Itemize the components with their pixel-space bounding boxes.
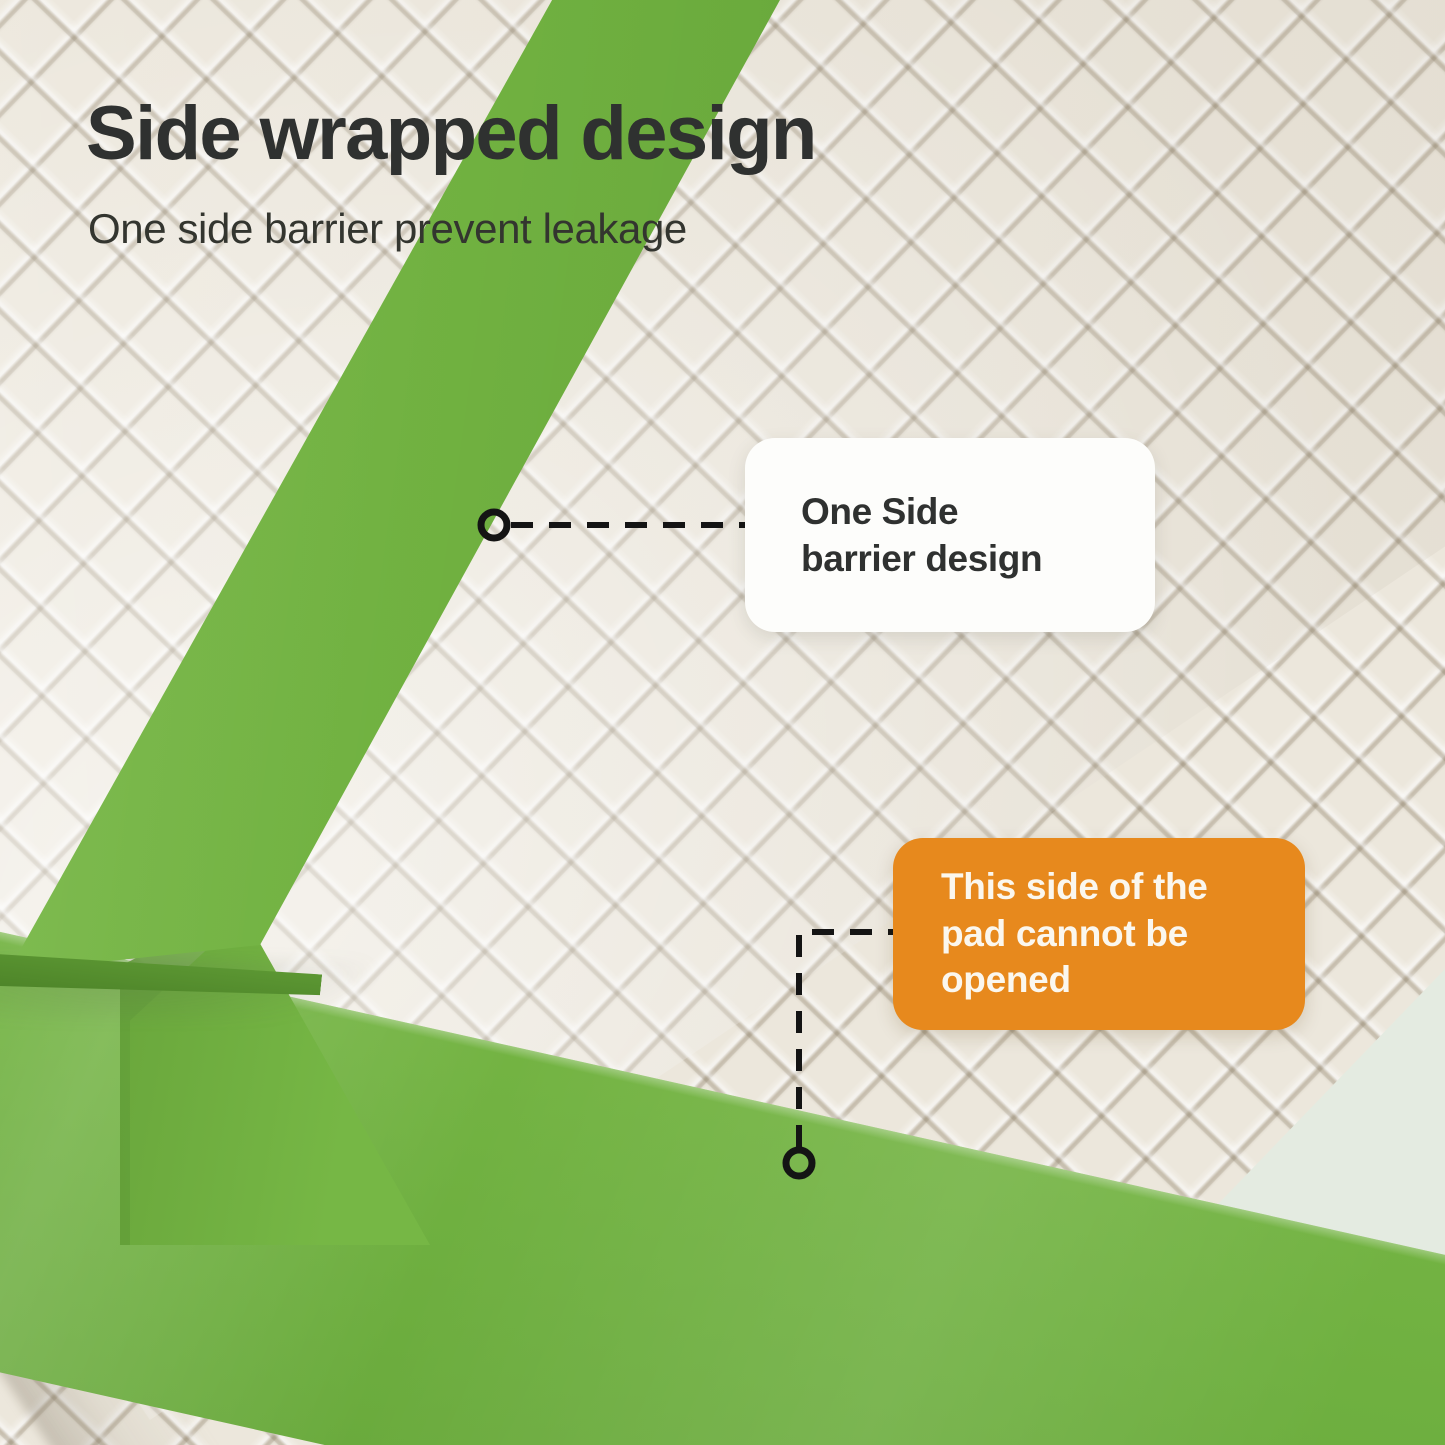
callout-cannot-be-opened-text: This side of the pad cannot be opened: [941, 864, 1208, 1004]
callout-line: barrier design: [801, 538, 1042, 579]
callout-line: One Side: [801, 491, 958, 532]
callout-line: opened: [941, 959, 1071, 1000]
callout-line: This side of the: [941, 866, 1208, 907]
page-title: Side wrapped design: [86, 96, 816, 172]
callout-cannot-be-opened: This side of the pad cannot be opened: [893, 838, 1305, 1030]
callout-one-side-barrier-text: One Side barrier design: [801, 488, 1042, 583]
callout-line: pad cannot be: [941, 913, 1188, 954]
callout-one-side-barrier: One Side barrier design: [745, 438, 1155, 632]
page-subtitle: One side barrier prevent leakage: [88, 205, 687, 253]
product-infographic: Side wrapped design One side barrier pre…: [0, 0, 1445, 1445]
